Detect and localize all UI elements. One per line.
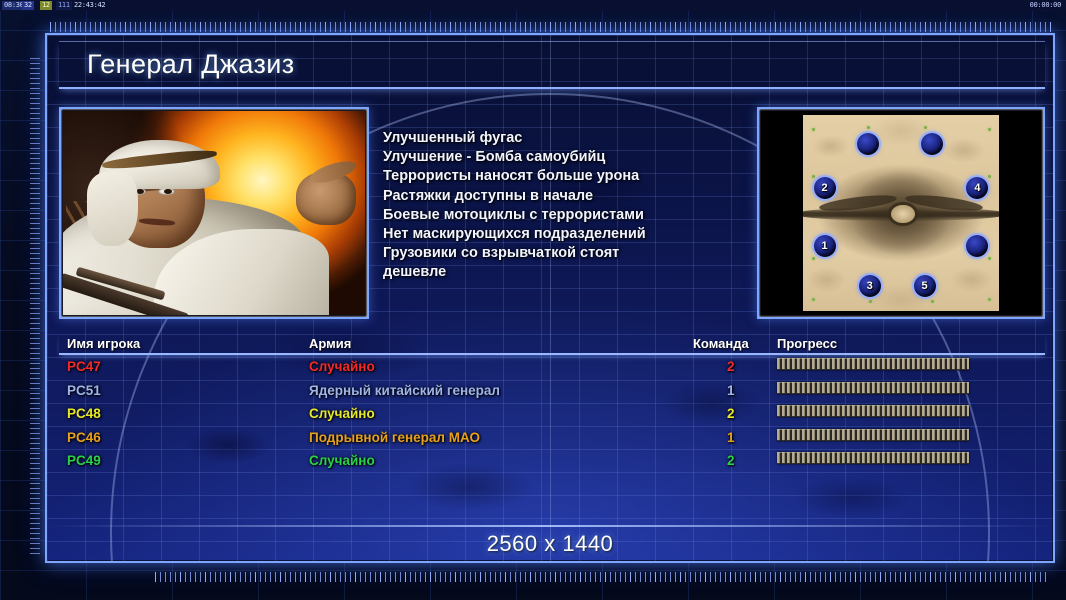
map-spawn-point[interactable]: 3 [859, 275, 881, 297]
portrait-panel [59, 107, 369, 319]
column-header-progress: Прогресс [777, 336, 837, 351]
column-header-team: Команда [693, 336, 749, 351]
taskbar-clock: 22:43:42 [72, 1, 107, 10]
player-team: 1 [727, 379, 735, 403]
ruler-left-icon [30, 58, 40, 558]
player-army: Подрывной генерал МАО [309, 426, 480, 450]
map-resource-pip [812, 175, 815, 178]
table-row[interactable]: PC46Подрывной генерал МАО1 [59, 426, 1045, 450]
general-description: Улучшенный фугасУлучшение - Бомба самоуб… [383, 129, 713, 283]
map-resource-pip [812, 128, 815, 131]
general-summary-row: Улучшенный фугасУлучшение - Бомба самоуб… [59, 107, 1045, 325]
map-spawn-point[interactable] [857, 133, 879, 155]
description-line: Нет маскирующихся подразделений [383, 225, 713, 244]
players-table-body: PC47Случайно2PC51Ядерный китайский генер… [59, 355, 1045, 473]
players-table: Имя игрока Армия Команда Прогресс PC47Сл… [59, 333, 1045, 533]
player-team: 2 [727, 449, 735, 473]
player-progress-bar [777, 358, 969, 370]
taskbar-segment-3: 12 [40, 1, 52, 10]
map-spawn-point[interactable]: 5 [914, 275, 936, 297]
table-row[interactable]: PC47Случайно2 [59, 355, 1045, 379]
map-resource-pip [988, 128, 991, 131]
description-line: дешевле [383, 263, 713, 282]
table-row[interactable]: PC51Ядерный китайский генерал1 [59, 379, 1045, 403]
match-timer: 00:00:00 [1028, 1, 1063, 10]
figure-headwrap-drape [87, 172, 138, 245]
map-preview-panel: 24135 [757, 107, 1045, 319]
player-team: 2 [727, 402, 735, 426]
player-name: PC48 [67, 402, 101, 426]
player-name: PC49 [67, 449, 101, 473]
player-army: Случайно [309, 355, 375, 379]
ruler-top-icon [50, 22, 1054, 32]
player-army: Случайно [309, 449, 375, 473]
general-info-window: Генерал Джазиз [45, 33, 1055, 563]
map-spawn-point[interactable]: 2 [814, 177, 836, 199]
taskbar-segment-4: 111 [56, 1, 72, 10]
map-center-island [891, 205, 915, 223]
description-line: Террористы наносят больше урона [383, 167, 713, 186]
table-row[interactable]: PC49Случайно2 [59, 449, 1045, 473]
figure-pupil-right [164, 189, 172, 194]
map-letterbox: 24135 [761, 111, 1041, 315]
ruler-bottom-icon [155, 572, 1050, 582]
table-row[interactable]: PC48Случайно2 [59, 402, 1045, 426]
player-name: PC47 [67, 355, 101, 379]
resolution-label: 2560 x 1440 [47, 531, 1053, 557]
map-resource-pip [867, 126, 870, 129]
description-line: Боевые мотоциклы с террористами [383, 206, 713, 225]
page-title: Генерал Джазиз [87, 49, 295, 80]
general-portrait [63, 111, 365, 315]
screen-root: 08:30 32 12 111 22:43:42 00:00:00 Генера… [0, 0, 1066, 600]
description-line: Улучшение - Бомба самоубийц [383, 148, 713, 167]
map-image: 24135 [803, 115, 999, 311]
player-team: 1 [727, 426, 735, 450]
map-spawn-point[interactable]: 4 [966, 177, 988, 199]
window-titlebar: Генерал Джазиз [59, 41, 1045, 89]
map-resource-pip [988, 175, 991, 178]
map-resource-pip [924, 126, 927, 129]
taskbar-segment-2: 32 [22, 1, 34, 10]
column-header-name: Имя игрока [67, 336, 140, 351]
player-progress-bar [777, 382, 969, 394]
player-army: Ядерный китайский генерал [309, 379, 500, 403]
player-army: Случайно [309, 402, 375, 426]
footer-divider [47, 525, 1053, 527]
player-name: PC51 [67, 379, 101, 403]
player-progress-bar [777, 405, 969, 417]
column-header-army: Армия [309, 336, 351, 351]
player-name: PC46 [67, 426, 101, 450]
map-resource-pip [812, 257, 815, 260]
player-progress-bar [777, 429, 969, 441]
description-line: Улучшенный фугас [383, 129, 713, 148]
player-progress-bar [777, 452, 969, 464]
description-line: Растяжки доступны в начале [383, 187, 713, 206]
map-resource-pip [869, 300, 872, 303]
map-spawn-point[interactable]: 1 [814, 235, 836, 257]
description-line: Грузовики со взрывчаткой стоят [383, 244, 713, 263]
players-table-header: Имя игрока Армия Команда Прогресс [59, 333, 1045, 355]
player-team: 2 [727, 355, 735, 379]
taskbar: 08:30 32 12 111 22:43:42 00:00:00 [0, 0, 1066, 11]
